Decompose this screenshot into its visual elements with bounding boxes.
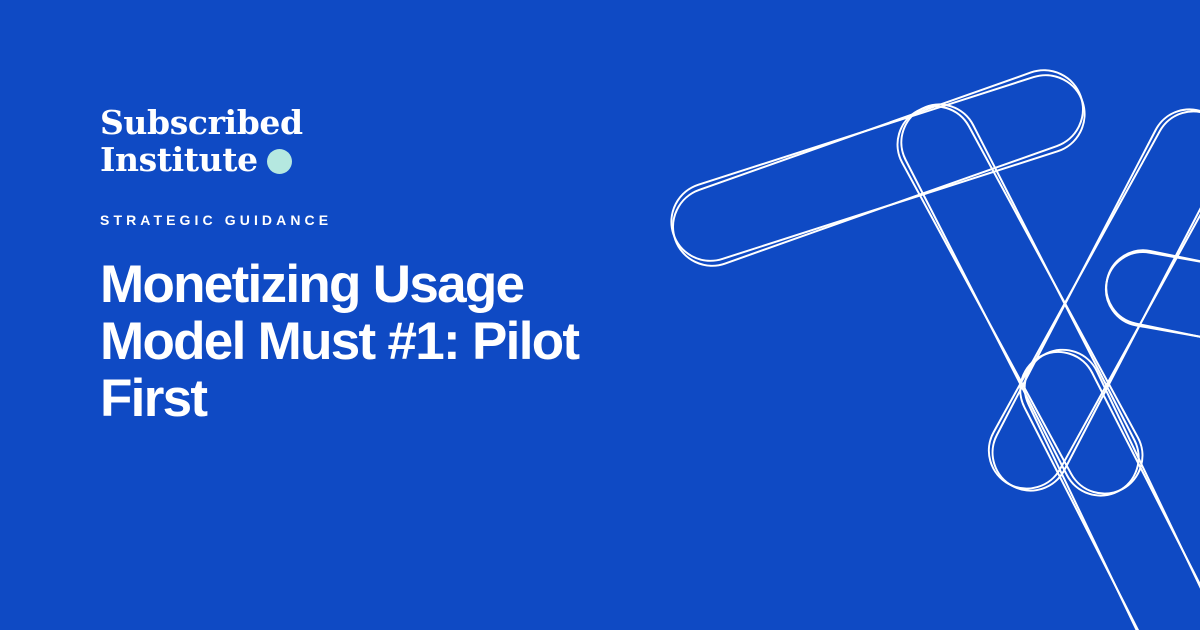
page-title: Monetizing Usage Model Must #1: Pilot Fi… xyxy=(100,256,640,427)
capsule-3 xyxy=(1100,244,1200,357)
headline-line-3: First xyxy=(100,370,640,427)
logo-line-institute: Institute xyxy=(100,141,258,178)
content-column: Subscribed Institute STRATEGIC GUIDANCE … xyxy=(100,0,660,630)
eyebrow-label: STRATEGIC GUIDANCE xyxy=(100,212,332,228)
social-card: Subscribed Institute STRATEGIC GUIDANCE … xyxy=(0,0,1200,630)
capsule-2 xyxy=(884,91,1156,508)
logo-line-subscribed: Subscribed xyxy=(100,104,430,141)
logo-line-institute-row: Institute xyxy=(100,141,430,178)
capsule-5 xyxy=(975,96,1200,504)
capsule-4 xyxy=(1007,337,1200,630)
headline-line-1: Monetizing Usage xyxy=(100,256,640,313)
capsule-1 xyxy=(661,59,1094,276)
brand-logo[interactable]: Subscribed Institute xyxy=(100,104,430,178)
headline-line-2: Model Must #1: Pilot xyxy=(100,313,640,370)
mint-circle-icon xyxy=(267,149,292,174)
